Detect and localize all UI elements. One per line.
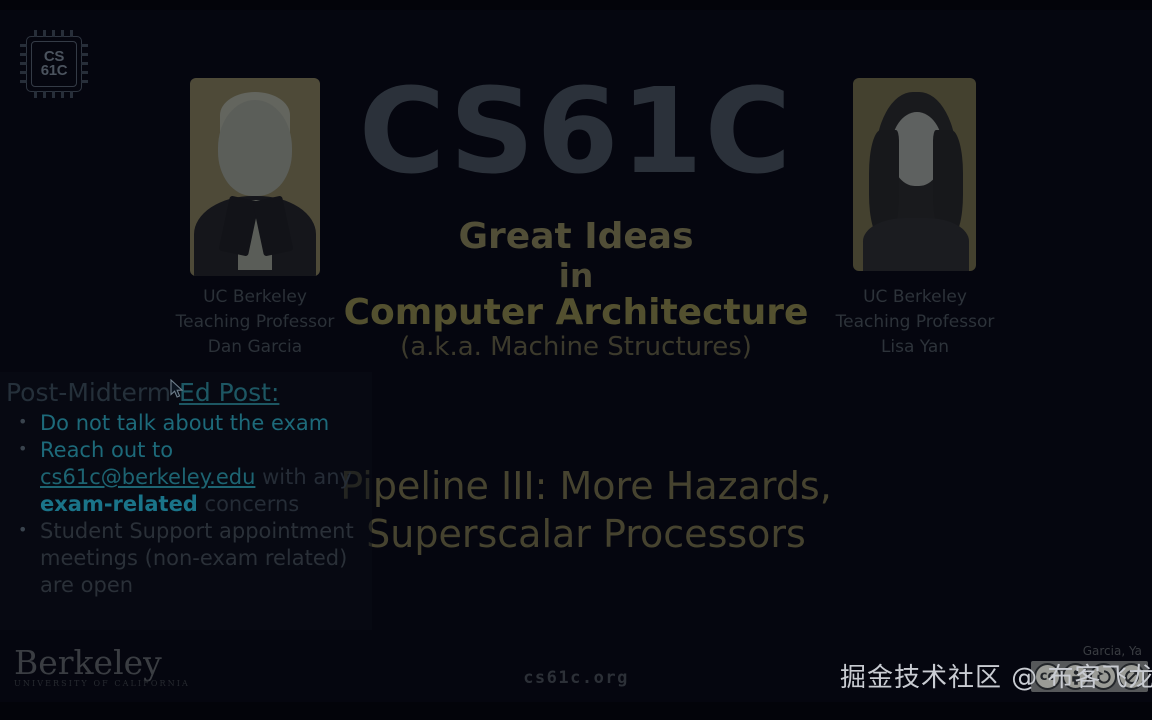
bullet2-emphasis: exam-related [40,492,198,516]
instructor-name: Lisa Yan [820,335,1010,360]
overlay-heading-link[interactable]: Ed Post: [179,378,279,407]
ed-post-overlay-panel[interactable]: Post-Midterm Ed Post: Do not talk about … [0,372,372,630]
overlay-heading: Post-Midterm Ed Post: [6,378,279,408]
course-title: CS61C [0,72,1152,190]
instructor-affiliation: UC Berkeley [820,285,1010,310]
bullet2-mid: with any [262,465,352,489]
instructor-caption-dan: UC Berkeley Teaching Professor Dan Garci… [160,285,350,360]
overlay-bullet-1: Do not talk about the exam [6,410,366,437]
instructor-role: Teaching Professor [820,310,1010,335]
instructor-name: Dan Garcia [160,335,350,360]
attribution-text: Garcia, Ya [1083,644,1142,658]
support-email-link[interactable]: cs61c@berkeley.edu [40,465,255,489]
watermark-text: 掘金技术社区 @ 布客飞龙 [840,662,1152,694]
berkeley-wordmark-text: Berkeley [14,646,194,680]
instructor-caption-lisa: UC Berkeley Teaching Professor Lisa Yan [820,285,1010,360]
overlay-bullet-list: Do not talk about the exam Reach out to … [6,410,366,599]
berkeley-wordmark-subtext: UNIVERSITY OF CALIFORNIA [14,679,194,688]
bullet2-tail: concerns [205,492,300,516]
overlay-bullet-2: Reach out to cs61c@berkeley.edu with any… [6,437,366,518]
instructor-role: Teaching Professor [160,310,350,335]
video-frame: CS 61C CS61C Great Ideas in Compute [0,0,1152,720]
tagline-line-1: Great Ideas [0,216,1152,257]
overlay-bullet-3: Student Support appointment meetings (no… [6,518,366,599]
bullet2-lead: Reach out to [40,438,173,462]
letterbox-top [0,0,1152,10]
mouse-cursor [170,379,184,404]
overlay-heading-plain: Post-Midterm [6,378,179,407]
berkeley-wordmark: Berkeley UNIVERSITY OF CALIFORNIA [14,646,194,688]
letterbox-bottom [0,702,1152,720]
instructor-affiliation: UC Berkeley [160,285,350,310]
